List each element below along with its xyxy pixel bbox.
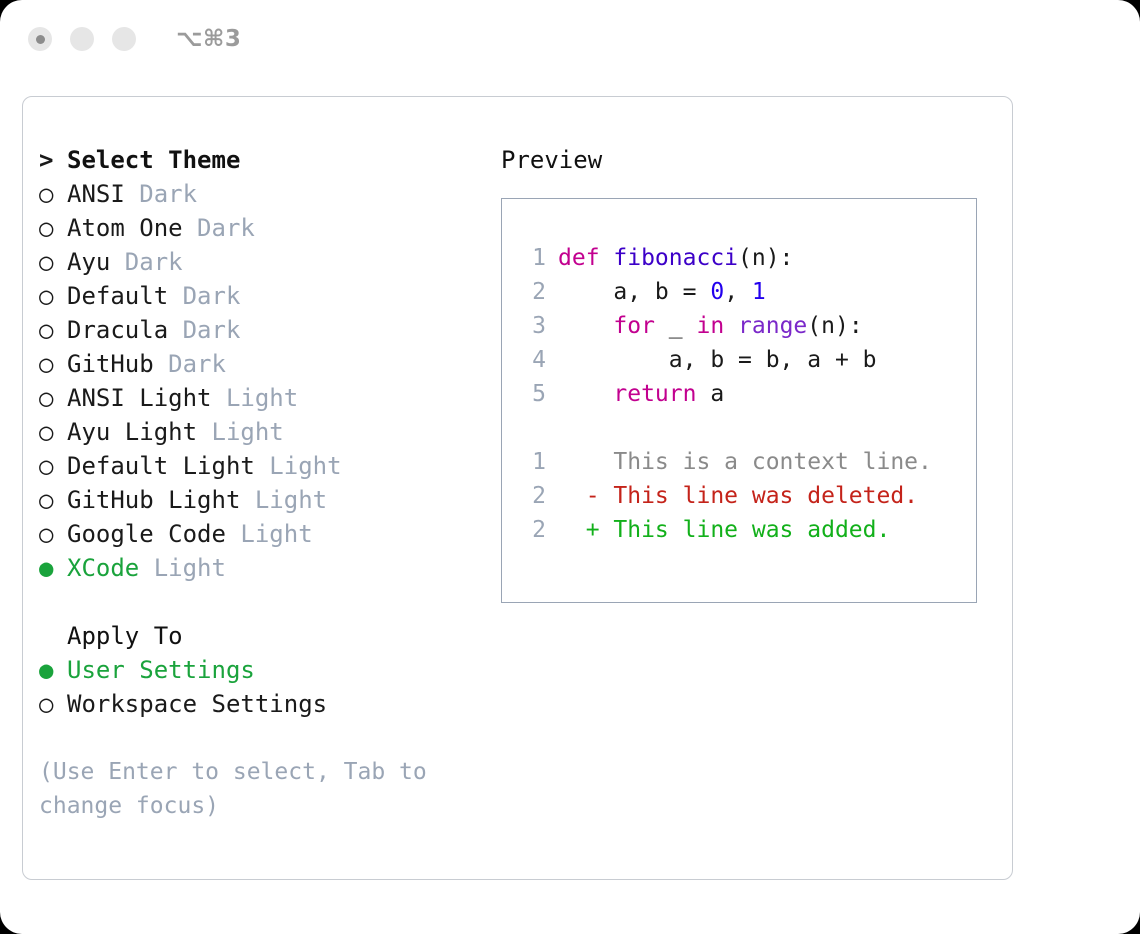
code-token-num: 0 (710, 279, 724, 305)
line-number: 3 (520, 309, 546, 343)
theme-item-kind: Light (255, 486, 327, 514)
theme-item-name: Ayu Light (67, 418, 212, 446)
radio-unselected-icon: ○ (39, 381, 67, 415)
theme-item-github[interactable]: ○GitHub Dark (39, 347, 499, 381)
code-token-kw: def (558, 245, 613, 271)
code-token-pl: , (724, 279, 752, 305)
apply-to-list: ●User Settings○Workspace Settings (39, 653, 499, 721)
radio-unselected-icon: ○ (39, 177, 67, 211)
theme-item-name: XCode (67, 554, 154, 582)
code-token-call: range (738, 313, 807, 339)
line-number: 2 (520, 275, 546, 309)
radio-unselected-icon: ○ (39, 483, 67, 517)
code-diff-spacer (520, 411, 976, 445)
radio-unselected-icon: ○ (39, 517, 67, 551)
radio-unselected-icon: ○ (39, 415, 67, 449)
theme-item-xcode[interactable]: ●XCode Light (39, 551, 499, 585)
diff-line-text: - This line was deleted. (558, 483, 918, 509)
line-number: 1 (520, 445, 546, 479)
theme-item-ansi[interactable]: ○ANSI Dark (39, 177, 499, 211)
code-line: 3 for _ in range(n): (520, 309, 976, 343)
main-panel: >Select Theme ○ANSI Dark○Atom One Dark○A… (22, 96, 1013, 880)
theme-item-kind: Dark (183, 316, 241, 344)
radio-selected-icon: ● (39, 653, 67, 687)
apply-to-item-workspace-settings[interactable]: ○Workspace Settings (39, 687, 499, 721)
theme-item-name: Dracula (67, 316, 183, 344)
keyboard-shortcut-label: ⌥⌘3 (176, 26, 241, 52)
radio-selected-icon: ● (39, 551, 67, 585)
keyboard-hint: (Use Enter to select, Tab to change focu… (39, 755, 449, 823)
theme-item-google-code[interactable]: ○Google Code Light (39, 517, 499, 551)
code-token-kw: for (613, 313, 655, 339)
theme-item-name: ANSI Light (67, 384, 226, 412)
section-spacer (39, 585, 499, 619)
diff-line-del: 2 - This line was deleted. (520, 479, 976, 513)
theme-item-default[interactable]: ○Default Dark (39, 279, 499, 313)
diff-line-text: + This line was added. (558, 517, 890, 543)
code-sample: 1def fibonacci(n):2 a, b = 0, 13 for _ i… (520, 241, 976, 411)
code-token-pl: a, b = (558, 279, 710, 305)
window-dot-third-icon[interactable] (112, 27, 136, 51)
apply-to-heading-label: Apply To (67, 622, 183, 650)
theme-item-name: Atom One (67, 214, 197, 242)
apply-to-item-user-settings[interactable]: ●User Settings (39, 653, 499, 687)
theme-item-name: Default (67, 282, 183, 310)
window-dot-active-icon[interactable] (28, 27, 52, 51)
diff-sample: 1 This is a context line.2 - This line w… (520, 445, 976, 547)
code-line: 4 a, b = b, a + b (520, 343, 976, 377)
radio-unselected-icon: ○ (39, 279, 67, 313)
theme-item-default-light[interactable]: ○Default Light Light (39, 449, 499, 483)
window-dot-second-icon[interactable] (70, 27, 94, 51)
line-number: 4 (520, 343, 546, 377)
theme-item-kind: Light (269, 452, 341, 480)
code-token-fn: fibonacci (613, 245, 738, 271)
theme-item-name: ANSI (67, 180, 139, 208)
theme-item-kind: Light (212, 418, 284, 446)
radio-unselected-icon: ○ (39, 211, 67, 245)
radio-unselected-icon: ○ (39, 245, 67, 279)
theme-item-kind: Dark (168, 350, 226, 378)
app-window: ⌥⌘3 >Select Theme ○ANSI Dark○Atom One Da… (0, 0, 1140, 934)
code-line: 5 return a (520, 377, 976, 411)
theme-item-kind: Dark (125, 248, 183, 276)
apply-to-item-name: Workspace Settings (67, 690, 327, 718)
code-line: 1def fibonacci(n): (520, 241, 976, 275)
theme-item-kind: Light (226, 384, 298, 412)
theme-item-ayu-light[interactable]: ○Ayu Light Light (39, 415, 499, 449)
theme-item-name: Ayu (67, 248, 125, 276)
theme-item-kind: Light (240, 520, 312, 548)
diff-line-ctx: 1 This is a context line. (520, 445, 976, 479)
line-number: 1 (520, 241, 546, 275)
line-number: 5 (520, 377, 546, 411)
theme-item-name: GitHub (67, 350, 168, 378)
window-controls (28, 27, 136, 51)
theme-item-kind: Dark (197, 214, 255, 242)
theme-item-kind: Dark (139, 180, 197, 208)
theme-item-name: GitHub Light (67, 486, 255, 514)
radio-unselected-icon: ○ (39, 449, 67, 483)
theme-item-github-light[interactable]: ○GitHub Light Light (39, 483, 499, 517)
code-token-pl: a, b = b, a + b (558, 347, 877, 373)
prompt-caret-icon: > (39, 143, 67, 177)
line-number: 2 (520, 513, 546, 547)
preview-column: Preview 1def fibonacci(n):2 a, b = 0, 13… (501, 143, 1001, 603)
code-token-pl: (n): (738, 245, 793, 271)
code-token-pl (724, 313, 738, 339)
select-theme-heading-label: Select Theme (67, 146, 240, 174)
preview-title: Preview (501, 143, 1001, 177)
diff-line-text: This is a context line. (558, 449, 932, 475)
line-number: 2 (520, 479, 546, 513)
theme-item-name: Default Light (67, 452, 269, 480)
theme-selector-column: >Select Theme ○ANSI Dark○Atom One Dark○A… (39, 143, 499, 823)
theme-item-ansi-light[interactable]: ○ANSI Light Light (39, 381, 499, 415)
code-token-pl: _ (655, 313, 697, 339)
theme-list: ○ANSI Dark○Atom One Dark○Ayu Dark○Defaul… (39, 177, 499, 585)
preview-box: 1def fibonacci(n):2 a, b = 0, 13 for _ i… (501, 198, 977, 603)
code-line: 2 a, b = 0, 1 (520, 275, 976, 309)
code-token-pl (558, 381, 613, 407)
code-token-num: 1 (752, 279, 766, 305)
apply-to-item-name: User Settings (67, 656, 255, 684)
code-token-pl: a (696, 381, 724, 407)
theme-item-ayu[interactable]: ○Ayu Dark (39, 245, 499, 279)
theme-item-kind: Dark (183, 282, 241, 310)
theme-item-kind: Light (154, 554, 226, 582)
radio-unselected-icon: ○ (39, 347, 67, 381)
radio-unselected-icon: ○ (39, 687, 67, 721)
select-theme-heading: >Select Theme (39, 143, 499, 177)
code-token-kw: return (613, 381, 696, 407)
code-token-pl: (n): (807, 313, 862, 339)
apply-to-heading: Apply To (39, 619, 499, 653)
theme-item-dracula[interactable]: ○Dracula Dark (39, 313, 499, 347)
theme-item-atom-one[interactable]: ○Atom One Dark (39, 211, 499, 245)
code-token-pl (558, 313, 613, 339)
window-dot-active-inner (36, 35, 45, 44)
theme-item-name: Google Code (67, 520, 240, 548)
code-token-kw: in (696, 313, 724, 339)
diff-line-add: 2 + This line was added. (520, 513, 976, 547)
title-bar: ⌥⌘3 (0, 0, 1140, 78)
radio-unselected-icon: ○ (39, 313, 67, 347)
apply-to-heading-indent (39, 619, 67, 653)
